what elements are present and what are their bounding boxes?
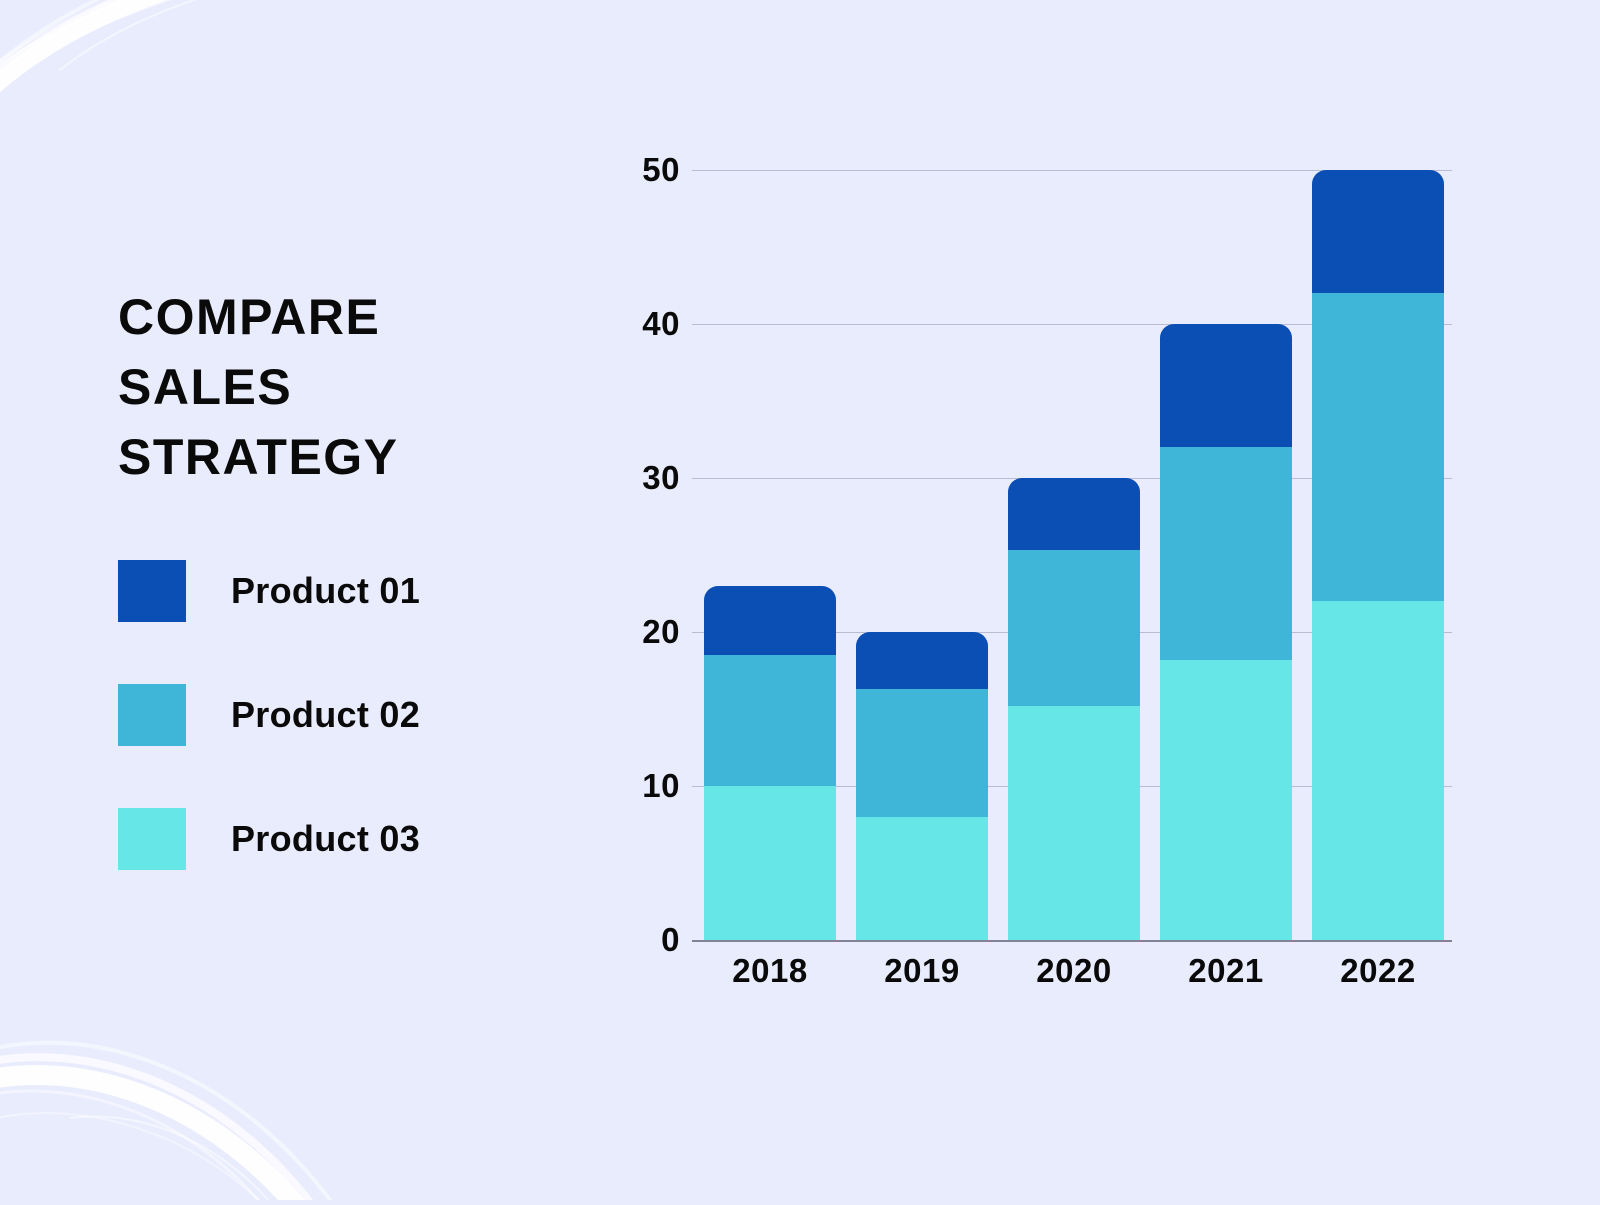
bar-segment[interactable] xyxy=(1160,324,1292,447)
legend-item-product-02[interactable]: Product 02 xyxy=(118,684,558,746)
legend-label-product-03: Product 03 xyxy=(231,818,420,860)
bar-segment[interactable] xyxy=(1312,170,1444,293)
legend-item-product-01[interactable]: Product 01 xyxy=(118,560,558,622)
bar-segment[interactable] xyxy=(856,632,988,689)
stacked-bar-chart: 50403020100 20182019202020212022 xyxy=(622,170,1482,1010)
legend-label-product-01: Product 01 xyxy=(231,570,420,612)
plot-area xyxy=(692,170,1452,940)
bar-stack xyxy=(1008,478,1140,940)
x-axis: 20182019202020212022 xyxy=(692,952,1452,990)
bar-segment[interactable] xyxy=(856,817,988,940)
bar-stack xyxy=(856,632,988,940)
axis-line xyxy=(692,940,1452,942)
bar-segment[interactable] xyxy=(856,689,988,817)
y-tick-label: 10 xyxy=(642,767,680,805)
bar-segment[interactable] xyxy=(1312,293,1444,601)
y-tick-label: 20 xyxy=(642,613,680,651)
bar-column[interactable] xyxy=(1160,324,1292,940)
x-tick-label: 2022 xyxy=(1312,952,1444,990)
y-tick-label: 40 xyxy=(642,305,680,343)
left-panel: COMPARE SALES STRATEGY Product 01 Produc… xyxy=(118,282,558,870)
legend-swatch-product-01 xyxy=(118,560,186,622)
bar-column[interactable] xyxy=(1312,170,1444,940)
bar-segment[interactable] xyxy=(1008,550,1140,706)
legend-label-product-02: Product 02 xyxy=(231,694,420,736)
bar-segment[interactable] xyxy=(1160,660,1292,940)
bar-column[interactable] xyxy=(704,586,836,940)
page-title: COMPARE SALES STRATEGY xyxy=(118,282,428,492)
x-tick-label: 2020 xyxy=(1008,952,1140,990)
bar-segment[interactable] xyxy=(1312,601,1444,940)
bar-segment[interactable] xyxy=(1008,706,1140,940)
y-tick-label: 30 xyxy=(642,459,680,497)
bar-column[interactable] xyxy=(856,632,988,940)
bar-segment[interactable] xyxy=(1008,478,1140,550)
bar-segment[interactable] xyxy=(704,586,836,655)
bar-segment[interactable] xyxy=(1160,447,1292,660)
bar-segment[interactable] xyxy=(704,655,836,786)
x-tick-label: 2018 xyxy=(704,952,836,990)
bar-stack xyxy=(1312,170,1444,940)
y-axis: 50403020100 xyxy=(622,170,680,940)
chart-legend: Product 01 Product 02 Product 03 xyxy=(118,560,558,870)
legend-item-product-03[interactable]: Product 03 xyxy=(118,808,558,870)
bar-stack xyxy=(704,586,836,940)
y-tick-label: 0 xyxy=(661,921,680,959)
bar-column[interactable] xyxy=(1008,478,1140,940)
legend-swatch-product-03 xyxy=(118,808,186,870)
x-tick-label: 2019 xyxy=(856,952,988,990)
legend-swatch-product-02 xyxy=(118,684,186,746)
bar-group xyxy=(692,170,1452,940)
bar-segment[interactable] xyxy=(704,786,836,940)
y-tick-label: 50 xyxy=(642,151,680,189)
x-tick-label: 2021 xyxy=(1160,952,1292,990)
bar-stack xyxy=(1160,324,1292,940)
